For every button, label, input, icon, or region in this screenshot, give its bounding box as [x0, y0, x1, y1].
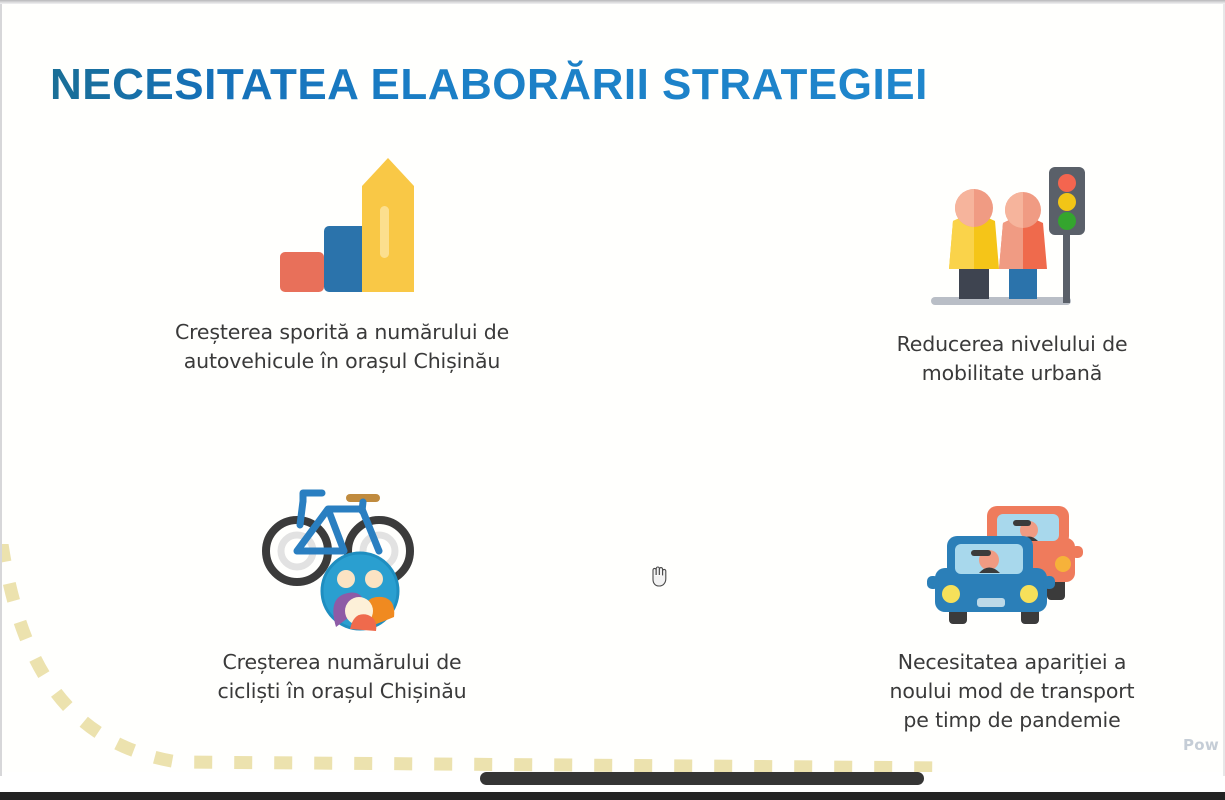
- bar-chart-growth-icon: [262, 144, 422, 304]
- caption-line-1: Reducerea nivelului de: [802, 330, 1222, 359]
- item-caption: Necesitatea apariției a noului mod de tr…: [802, 648, 1222, 735]
- window-bottom-edge: [0, 792, 1225, 800]
- caption-line-1: Necesitatea apariției a: [802, 648, 1222, 677]
- caption-line-3: pe timp de pandemie: [802, 706, 1222, 735]
- caption-line-1: Creșterea numărului de: [132, 648, 552, 677]
- icon-container: [132, 134, 552, 304]
- watermark: Pow: [1183, 736, 1223, 754]
- two-cars-traffic-icon: [925, 494, 1100, 634]
- pedestrians-traffic-light-icon: [925, 161, 1100, 316]
- presentation-viewer: NECESITATEA ELABORĂRII STRATEGIEI: [0, 0, 1225, 800]
- item-caption: Creșterea numărului de cicliști în orașu…: [132, 648, 552, 706]
- icon-container: [802, 146, 1222, 316]
- item-urban-mobility: Reducerea nivelului de mobilitate urbană: [802, 146, 1222, 388]
- item-car-growth: Creșterea sporită a numărului de autoveh…: [132, 134, 552, 376]
- caption-line-2: noului mod de transport: [802, 677, 1222, 706]
- items-grid: Creșterea sporită a numărului de autoveh…: [2, 134, 1223, 734]
- horizontal-scrollbar[interactable]: [2, 770, 1223, 786]
- caption-line-2: mobilitate urbană: [802, 359, 1222, 388]
- item-caption: Reducerea nivelului de mobilitate urbană: [802, 330, 1222, 388]
- item-cyclists: Creșterea numărului de cicliști în orașu…: [132, 464, 552, 706]
- icon-container: [132, 464, 552, 634]
- horizontal-scrollbar-thumb[interactable]: [480, 772, 924, 785]
- caption-line-1: Creșterea sporită a numărului de: [132, 318, 552, 347]
- item-new-transport-pandemic: Necesitatea apariției a noului mod de tr…: [802, 464, 1222, 735]
- caption-line-2: cicliști în orașul Chișinău: [132, 677, 552, 706]
- bicycle-cyclists-icon: [262, 479, 422, 634]
- item-caption: Creșterea sporită a numărului de autoveh…: [132, 318, 552, 376]
- caption-line-2: autovehicule în orașul Chișinău: [132, 347, 552, 376]
- icon-container: [802, 464, 1222, 634]
- slide-canvas[interactable]: NECESITATEA ELABORĂRII STRATEGIEI: [2, 4, 1223, 772]
- slide-title: NECESITATEA ELABORĂRII STRATEGIEI: [50, 60, 928, 110]
